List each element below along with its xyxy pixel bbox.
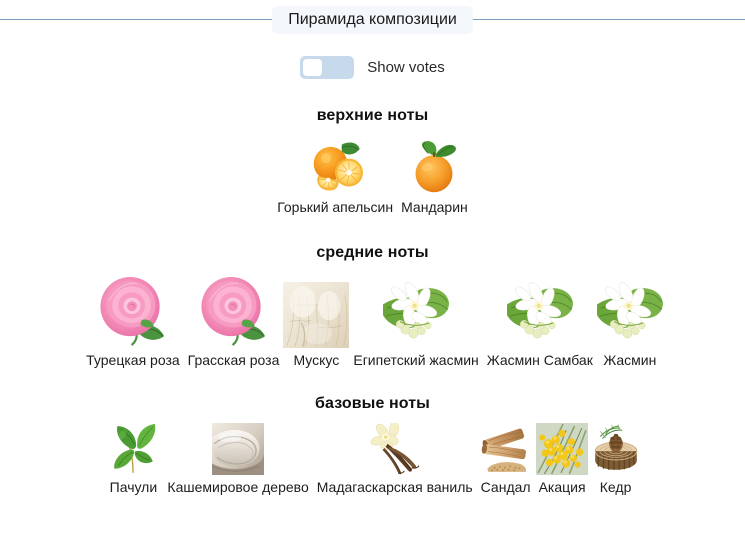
note-label: Жасмин Самбак <box>483 352 597 370</box>
note-label: Мадагаскарская ваниль <box>313 479 477 497</box>
note-label: Акация <box>535 479 590 497</box>
show-votes-label: Show votes <box>367 59 445 76</box>
note-item[interactable]: Пачули <box>103 423 163 497</box>
note-item[interactable]: Акация <box>535 423 590 497</box>
section-title-top-notes: верхние ноты <box>0 107 745 125</box>
cedar-icon <box>590 423 642 475</box>
composition-pyramid-panel: Пирамида композиции Show votes верхние н… <box>0 0 745 538</box>
note-label: Жасмин <box>599 352 660 370</box>
sambac-jasmine-icon <box>507 282 573 348</box>
acacia-icon <box>536 423 588 475</box>
section-title-middle-notes: средние ноты <box>0 244 745 262</box>
show-votes-toggle[interactable] <box>300 56 354 79</box>
note-label: Пачули <box>106 479 162 497</box>
note-label: Мускус <box>289 352 343 370</box>
note-item[interactable]: Жасмин Самбак <box>483 282 597 370</box>
note-item[interactable]: Грасская роза <box>184 274 284 370</box>
note-item[interactable]: Мадагаскарская ваниль <box>313 423 477 497</box>
sandalwood-icon <box>480 423 532 475</box>
section-top-notes: верхние ноты Горький апельсинМандарин <box>0 107 745 217</box>
note-item[interactable]: Мандарин <box>397 139 472 217</box>
section-middle-notes: средние ноты Турецкая розаГрасская розаМ… <box>0 244 745 370</box>
cashmere-wood-icon <box>210 423 266 475</box>
musk-icon <box>283 282 349 348</box>
note-item[interactable]: Кедр <box>590 423 642 497</box>
note-label: Египетский жасмин <box>349 352 482 370</box>
madagascar-vanilla-icon <box>367 423 423 475</box>
mandarin-icon <box>406 139 462 195</box>
notes-row-top: Горький апельсинМандарин <box>0 139 745 217</box>
show-votes-toggle-row: Show votes <box>0 56 745 79</box>
note-label: Турецкая роза <box>82 352 184 370</box>
note-label: Мандарин <box>397 199 472 217</box>
note-label: Сандал <box>477 479 535 497</box>
grasse-rose-icon <box>188 274 280 348</box>
jasmine-icon <box>597 282 663 348</box>
toggle-knob <box>303 59 322 76</box>
note-label: Грасская роза <box>184 352 284 370</box>
page-title: Пирамида композиции <box>272 6 473 35</box>
note-item[interactable]: Жасмин <box>597 282 663 370</box>
note-item[interactable]: Кашемировое дерево <box>163 423 312 497</box>
turkish-rose-icon <box>87 274 179 348</box>
notes-row-base: ПачулиКашемировое деревоМадагаскарская в… <box>0 423 745 497</box>
note-item[interactable]: Египетский жасмин <box>349 282 482 370</box>
note-item[interactable]: Сандал <box>477 423 535 497</box>
patchouli-icon <box>103 423 163 475</box>
section-title-base-notes: базовые ноты <box>0 395 745 413</box>
panel-header: Пирамида композиции <box>0 0 745 40</box>
note-item[interactable]: Мускус <box>283 282 349 370</box>
note-label: Кашемировое дерево <box>163 479 312 497</box>
note-item[interactable]: Горький апельсин <box>273 139 397 217</box>
section-base-notes: базовые ноты ПачулиКашемировое деревоМад… <box>0 395 745 497</box>
notes-row-middle: Турецкая розаГрасская розаМускусЕгипетск… <box>0 274 745 370</box>
note-item[interactable]: Турецкая роза <box>82 274 184 370</box>
note-label: Кедр <box>596 479 636 497</box>
bitter-orange-icon <box>300 139 370 195</box>
egyptian-jasmine-icon <box>383 282 449 348</box>
note-label: Горький апельсин <box>273 199 397 217</box>
